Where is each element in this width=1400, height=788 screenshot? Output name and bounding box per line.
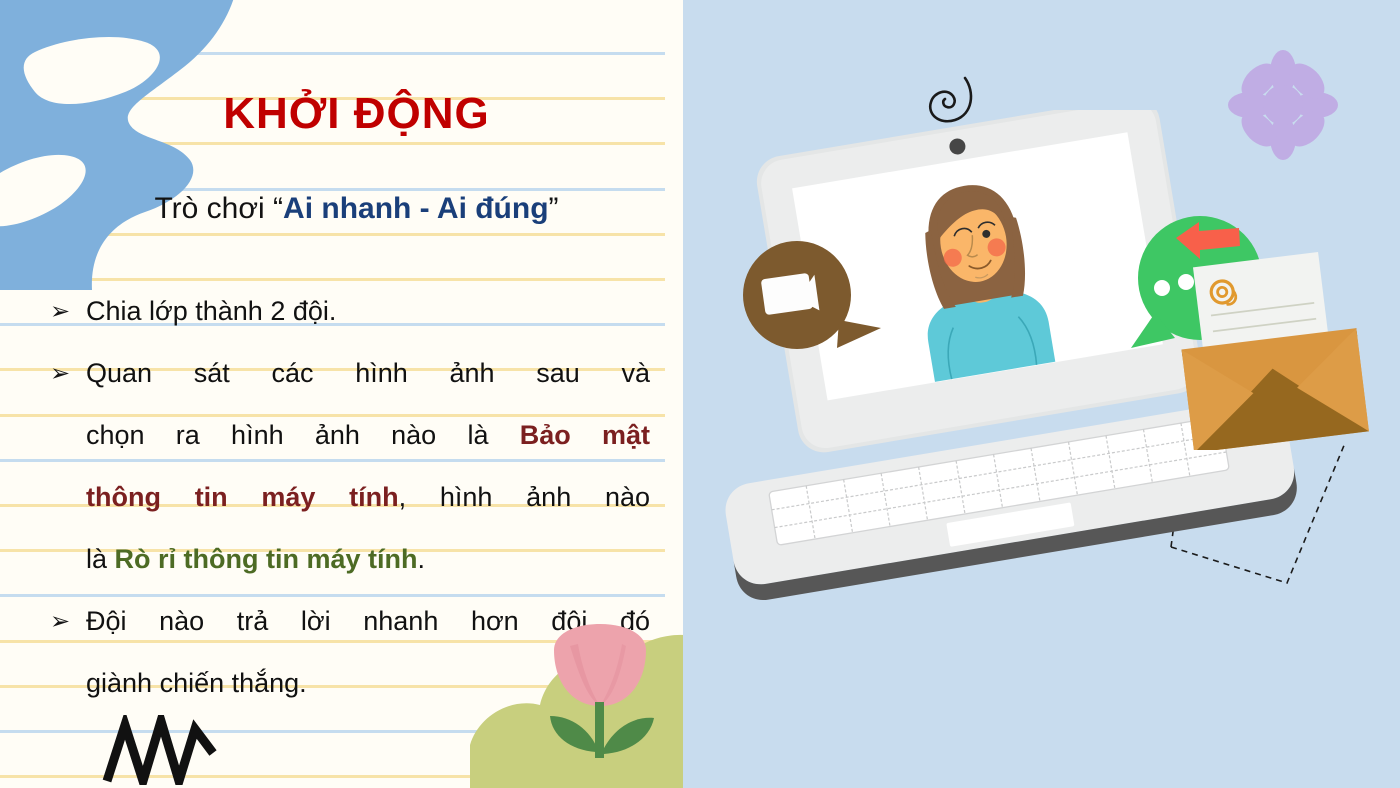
subtitle-highlight: Ai nhanh - Ai đúng bbox=[283, 192, 549, 225]
envelope-with-letter bbox=[1178, 250, 1378, 450]
text-run: Bảo mật bbox=[520, 420, 650, 450]
text-run: thông tin máy tính bbox=[86, 482, 399, 512]
list-item: thông tin máy tính, hình ảnh nào bbox=[50, 466, 650, 528]
bullet-arrow-icon: ➢ bbox=[50, 342, 86, 404]
list-item: ➢Chia lớp thành 2 đội. bbox=[50, 280, 650, 342]
text-run: là bbox=[86, 544, 115, 574]
illustration-panel bbox=[683, 0, 1400, 788]
text-run: . bbox=[418, 544, 426, 574]
slide-root: KHỞI ĐỘNG Trò chơi “Ai nhanh - Ai đúng” … bbox=[0, 0, 1400, 788]
list-item-text: Chia lớp thành 2 đội. bbox=[86, 280, 650, 342]
subtitle-suffix: ” bbox=[549, 192, 559, 225]
list-item-text: chọn ra hình ảnh nào là Bảo mật bbox=[86, 404, 650, 466]
list-item-text: là Rò rỉ thông tin máy tính. bbox=[86, 528, 650, 590]
red-arrow-pointing-left bbox=[1173, 218, 1243, 263]
list-item: ➢Quan sát các hình ảnh sau và bbox=[50, 342, 650, 404]
blue-splash-blob bbox=[0, 0, 270, 290]
text-run: Rò rỉ thông tin máy tính bbox=[115, 544, 418, 574]
zigzag-doodle bbox=[95, 715, 235, 785]
list-item: là Rò rỉ thông tin máy tính. bbox=[50, 528, 650, 590]
text-run: , hình ảnh nào bbox=[399, 482, 650, 512]
page-title: KHỞI ĐỘNG bbox=[0, 92, 683, 136]
subtitle: Trò chơi “Ai nhanh - Ai đúng” bbox=[0, 192, 683, 225]
subtitle-prefix: Trò chơi “ bbox=[154, 192, 283, 225]
pink-tulip bbox=[540, 620, 660, 760]
bullet-arrow-icon: ➢ bbox=[50, 280, 86, 342]
list-item: chọn ra hình ảnh nào là Bảo mật bbox=[50, 404, 650, 466]
list-item-text: thông tin máy tính, hình ảnh nào bbox=[86, 466, 650, 528]
bullet-arrow-icon: ➢ bbox=[50, 590, 86, 652]
list-item-text: Quan sát các hình ảnh sau và bbox=[86, 342, 650, 404]
text-run: chọn ra hình ảnh nào là bbox=[86, 420, 520, 450]
